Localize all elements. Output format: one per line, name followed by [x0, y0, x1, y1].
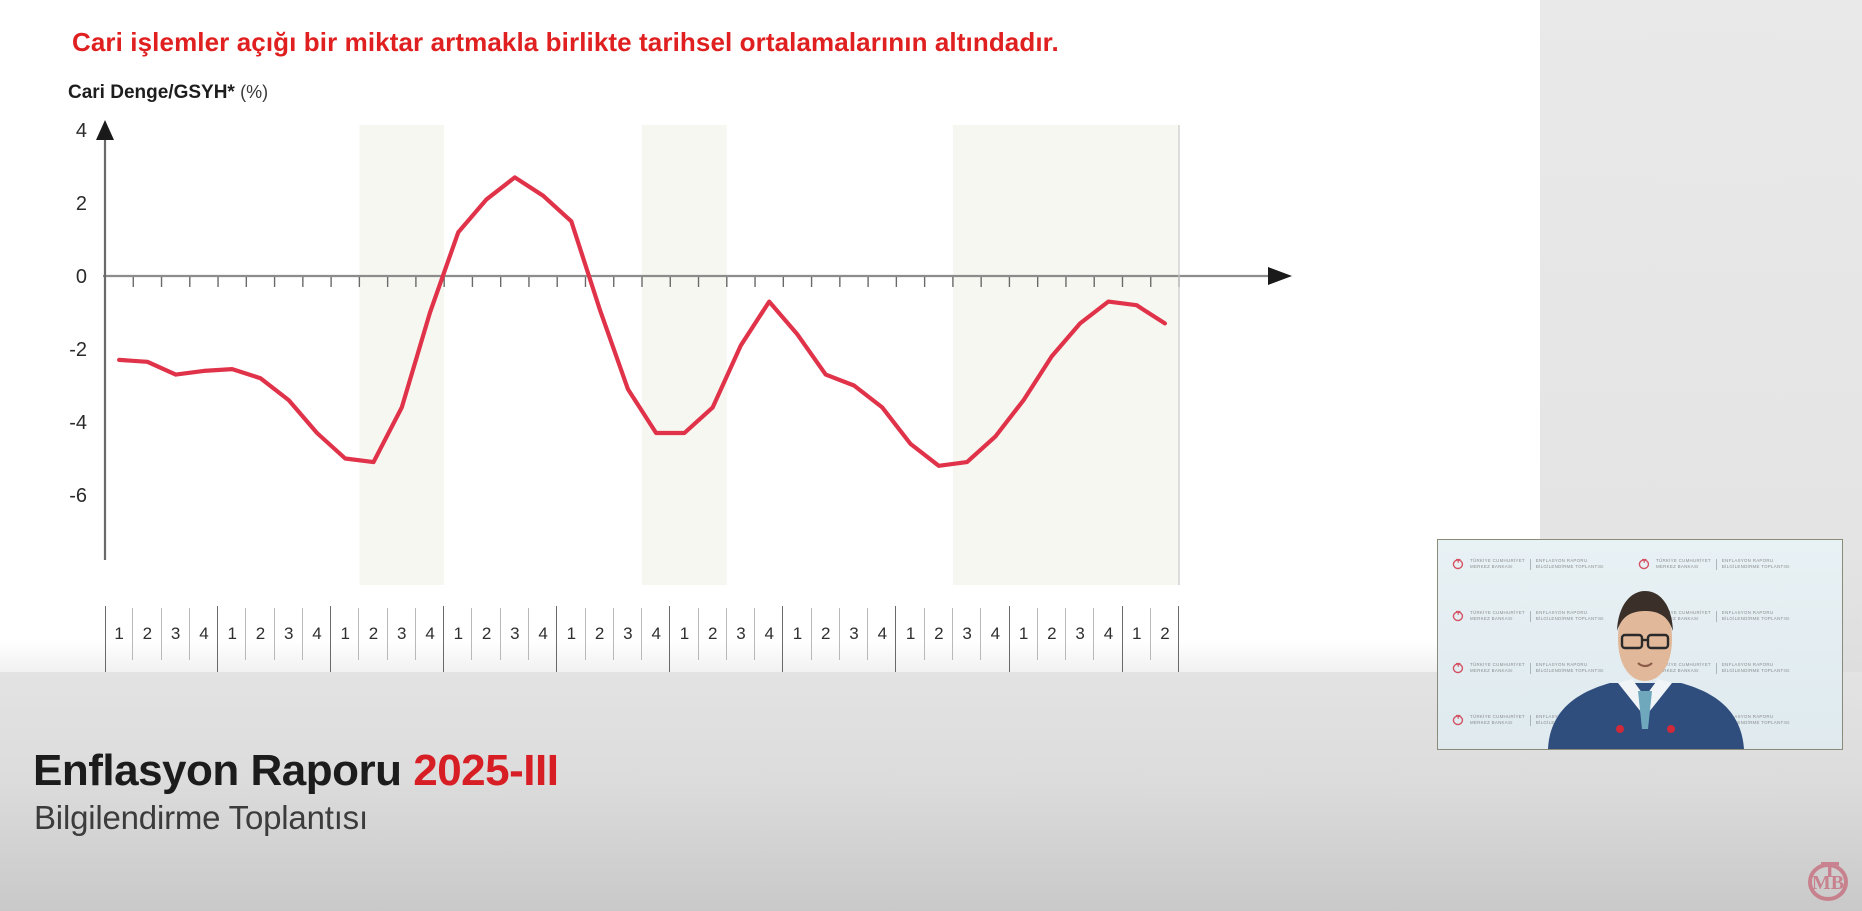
quarter-label: 1	[557, 606, 585, 662]
shaded-band	[642, 125, 727, 585]
tcmb-watermark-icon: MB	[1802, 856, 1854, 902]
quarter-label: 4	[190, 606, 218, 662]
quarter-label: 4	[868, 606, 896, 662]
quarter-label: 2	[246, 606, 274, 662]
banner-title-red: 2025-III	[413, 746, 558, 795]
quarter-label: 1	[331, 606, 359, 662]
quarter-label: 2	[472, 606, 500, 662]
shaded-band	[953, 125, 1179, 585]
video-logo-text: TÜRKİYE CUMHURİYETMERKEZ BANKASI	[1470, 558, 1525, 571]
quarter-label: 2	[133, 606, 161, 662]
video-backdrop-text: ENFLASYON RAPORUBİLGİLENDİRME TOPLANTISI	[1722, 558, 1790, 571]
video-logo-text: TÜRKİYE CUMHURİYETMERKEZ BANKASI	[1470, 610, 1525, 623]
y-axis-tick-label: 0	[76, 266, 87, 288]
tcmb-logo-icon	[1452, 714, 1465, 726]
x-axis-arrow	[1268, 267, 1292, 285]
tcmb-logo-icon	[1452, 662, 1465, 674]
quarter-label: 1	[1010, 606, 1038, 662]
quarter-label: 4	[981, 606, 1009, 662]
tcmb-logo-icon	[1638, 558, 1651, 570]
quarter-label: 3	[614, 606, 642, 662]
tcmb-logo-icon	[1452, 558, 1465, 570]
quarter-label: 2	[586, 606, 614, 662]
video-overlay[interactable]: TÜRKİYE CUMHURİYETMERKEZ BANKASIENFLASYO…	[1437, 539, 1843, 750]
quarter-label: 3	[275, 606, 303, 662]
y-axis-tick-label: -2	[69, 339, 87, 361]
quarter-label: 2	[699, 606, 727, 662]
chart-title: Cari Denge/GSYH* (%)	[68, 82, 268, 104]
divider	[1530, 559, 1531, 570]
quarter-label: 2	[359, 606, 387, 662]
quarter-label: 3	[388, 606, 416, 662]
quarter-label: 3	[1066, 606, 1094, 662]
quarter-label: 3	[840, 606, 868, 662]
video-backdrop-logo: TÜRKİYE CUMHURİYETMERKEZ BANKASIENFLASYO…	[1638, 558, 1790, 571]
chart-title-text: Cari Denge/GSYH*	[68, 82, 235, 103]
quarter-label: 2	[812, 606, 840, 662]
y-axis-tick-label: -4	[69, 412, 87, 434]
y-axis-tick-label: -6	[69, 485, 87, 507]
video-logo-text: TÜRKİYE CUMHURİYETMERKEZ BANKASI	[1656, 558, 1711, 571]
tcmb-logo-icon	[1452, 610, 1465, 622]
video-backdrop-logo: TÜRKİYE CUMHURİYETMERKEZ BANKASIENFLASYO…	[1452, 558, 1604, 571]
quarter-label: 4	[642, 606, 670, 662]
quarter-label: 4	[416, 606, 444, 662]
video-logo-text: TÜRKİYE CUMHURİYETMERKEZ BANKASI	[1470, 662, 1525, 675]
divider	[1716, 559, 1717, 570]
y-axis-arrow	[96, 120, 114, 140]
shaded-band	[359, 125, 444, 585]
video-logo-text: TÜRKİYE CUMHURİYETMERKEZ BANKASI	[1470, 714, 1525, 727]
banner-title-black: Enflasyon Raporu	[33, 746, 413, 795]
quarter-label: 1	[783, 606, 811, 662]
line-chart: 420-2-4-6	[0, 110, 1440, 610]
divider	[1530, 611, 1531, 622]
headline: Cari işlemler açığı bir miktar artmakla …	[72, 27, 1252, 58]
y-axis-tick-label: 2	[76, 193, 87, 215]
speaker-figure	[1538, 579, 1753, 749]
quarter-label: 3	[501, 606, 529, 662]
quarter-label: 1	[105, 606, 133, 662]
banner-title: Enflasyon Raporu 2025-III	[33, 746, 558, 796]
quarter-label: 2	[1151, 606, 1179, 662]
quarter-label: 1	[444, 606, 472, 662]
slide-stage: Cari işlemler açığı bir miktar artmakla …	[0, 0, 1862, 911]
chart-unit: (%)	[240, 82, 268, 102]
quarter-label: 4	[1094, 606, 1122, 662]
quarter-label: 1	[670, 606, 698, 662]
quarter-label: 1	[896, 606, 924, 662]
video-backdrop-text: ENFLASYON RAPORUBİLGİLENDİRME TOPLANTISI	[1536, 558, 1604, 571]
quarter-label: 3	[162, 606, 190, 662]
divider	[1530, 663, 1531, 674]
quarter-label: 4	[529, 606, 557, 662]
quarter-label: 1	[1123, 606, 1151, 662]
quarter-label: 1	[218, 606, 246, 662]
quarter-label: 4	[755, 606, 783, 662]
quarter-label-row: 12341234123412341234123412341234123412	[105, 606, 1179, 662]
chart-plot-area: 420-2-4-6	[0, 110, 1440, 610]
banner-subtitle: Bilgilendirme Toplantısı	[34, 799, 368, 837]
divider	[1530, 715, 1531, 726]
quarter-label: 4	[303, 606, 331, 662]
quarter-label: 3	[953, 606, 981, 662]
quarter-label: 3	[727, 606, 755, 662]
quarter-label: 2	[1038, 606, 1066, 662]
quarter-label: 2	[925, 606, 953, 662]
y-axis-tick-label: 4	[76, 120, 87, 142]
